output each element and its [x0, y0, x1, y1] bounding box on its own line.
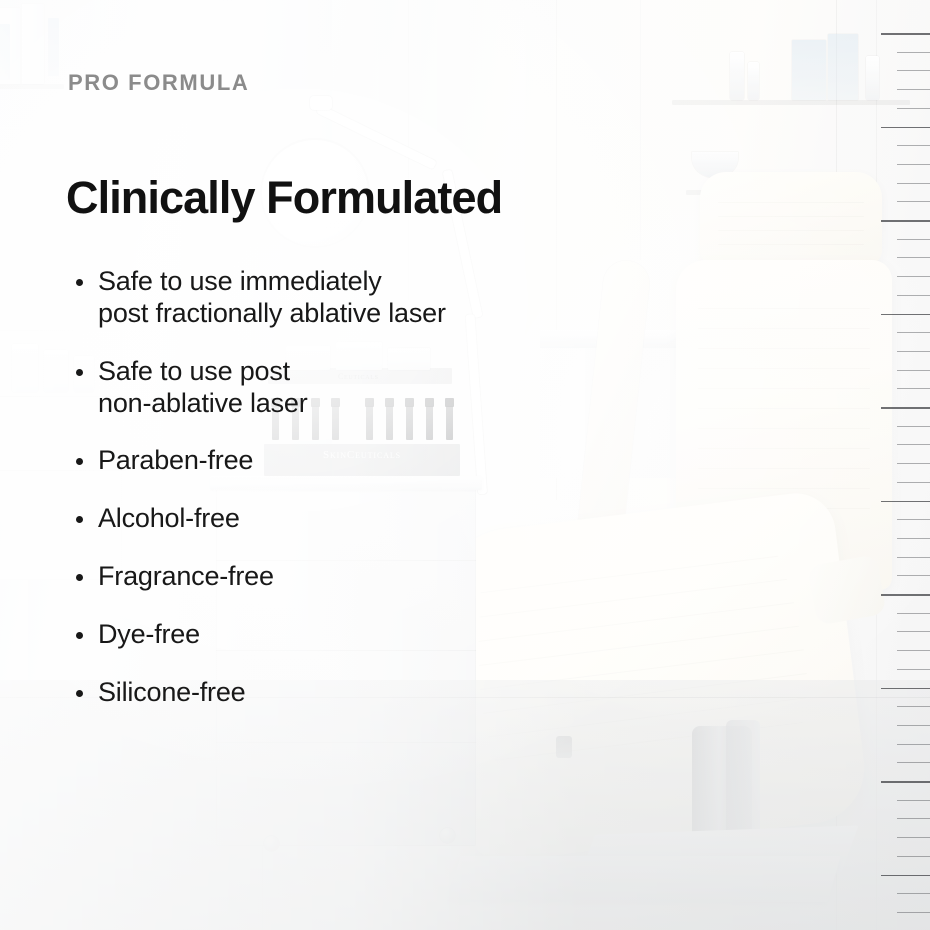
ruler-tick-minor — [897, 762, 930, 763]
shelf-bottle — [730, 52, 744, 100]
ruler-tick-minor — [897, 257, 930, 258]
list-item: Paraben-free — [72, 445, 542, 477]
ruler-tick-minor — [897, 351, 930, 352]
list-item: Fragrance-free — [72, 561, 542, 593]
ruler-tick-minor — [897, 164, 930, 165]
ruler-tick-minor — [897, 669, 930, 670]
ruler-tick-minor — [897, 482, 930, 483]
edge-ruler — [874, 0, 930, 930]
list-item-line: Dye-free — [98, 619, 542, 651]
list-item-line: Silicone-free — [98, 677, 542, 709]
ruler-tick-major — [881, 407, 930, 409]
ruler-tick-minor — [897, 52, 930, 53]
ruler-tick-minor — [897, 276, 930, 277]
chair-headrest — [700, 172, 882, 266]
ruler-tick-major — [881, 33, 930, 35]
list-item-line: Safe to use post — [98, 356, 542, 388]
shelf-bottle — [748, 62, 759, 100]
ruler-tick-minor — [897, 538, 930, 539]
list-item: Silicone-free — [72, 677, 542, 709]
ruler-tick-minor — [897, 800, 930, 801]
ruler-tick-minor — [897, 519, 930, 520]
shelf-box — [792, 40, 826, 100]
ruler-tick-minor — [897, 856, 930, 857]
feature-list: Safe to use immediatelypost fractionally… — [72, 266, 542, 735]
shelf-box — [828, 34, 858, 100]
wall-seam — [640, 0, 641, 260]
poster-canvas: mL — [0, 0, 930, 930]
ruler-tick-minor — [897, 426, 930, 427]
ruler-tick-major — [881, 501, 930, 503]
list-item-line: Fragrance-free — [98, 561, 542, 593]
ruler-tick-minor — [897, 295, 930, 296]
ruler-tick-minor — [897, 631, 930, 632]
list-item-line: Safe to use immediately — [98, 266, 542, 298]
ruler-tick-minor — [897, 108, 930, 109]
ruler-tick-minor — [897, 575, 930, 576]
ruler-tick-major — [881, 688, 930, 690]
ruler-tick-minor — [897, 706, 930, 707]
ruler-tick-minor — [897, 725, 930, 726]
ruler-tick-minor — [897, 744, 930, 745]
list-item: Alcohol-free — [72, 503, 542, 535]
ruler-tick-minor — [897, 893, 930, 894]
eyebrow-label: PRO FORMULA — [68, 70, 249, 96]
ruler-tick-minor — [897, 463, 930, 464]
text-content: PRO FORMULA Clinically Formulated Safe t… — [0, 0, 600, 930]
ruler-tick-minor — [897, 89, 930, 90]
ruler-tick-major — [881, 127, 930, 129]
ruler-tick-major — [881, 781, 930, 783]
list-item-line: Paraben-free — [98, 445, 542, 477]
list-item-line: non-ablative laser — [98, 388, 542, 420]
ruler-tick-minor — [897, 818, 930, 819]
ruler-tick-major — [881, 875, 930, 877]
ruler-tick-major — [881, 220, 930, 222]
ruler-tick-minor — [897, 444, 930, 445]
list-item: Safe to use immediatelypost fractionally… — [72, 266, 542, 330]
page-title: Clinically Formulated — [66, 172, 502, 224]
ruler-tick-minor — [897, 145, 930, 146]
ruler-tick-minor — [897, 70, 930, 71]
ruler-tick-minor — [897, 183, 930, 184]
ruler-tick-minor — [897, 557, 930, 558]
ruler-tick-minor — [897, 912, 930, 913]
ruler-tick-major — [881, 314, 930, 316]
ruler-tick-minor — [897, 650, 930, 651]
list-item-line: Alcohol-free — [98, 503, 542, 535]
ruler-tick-minor — [897, 239, 930, 240]
ruler-tick-minor — [897, 388, 930, 389]
ruler-tick-minor — [897, 370, 930, 371]
ruler-tick-minor — [897, 201, 930, 202]
ruler-tick-minor — [897, 332, 930, 333]
ruler-tick-minor — [897, 613, 930, 614]
list-item: Safe to use postnon-ablative laser — [72, 356, 542, 420]
ruler-tick-major — [881, 594, 930, 596]
list-item: Dye-free — [72, 619, 542, 651]
list-item-line: post fractionally ablative laser — [98, 298, 542, 330]
ruler-tick-minor — [897, 837, 930, 838]
